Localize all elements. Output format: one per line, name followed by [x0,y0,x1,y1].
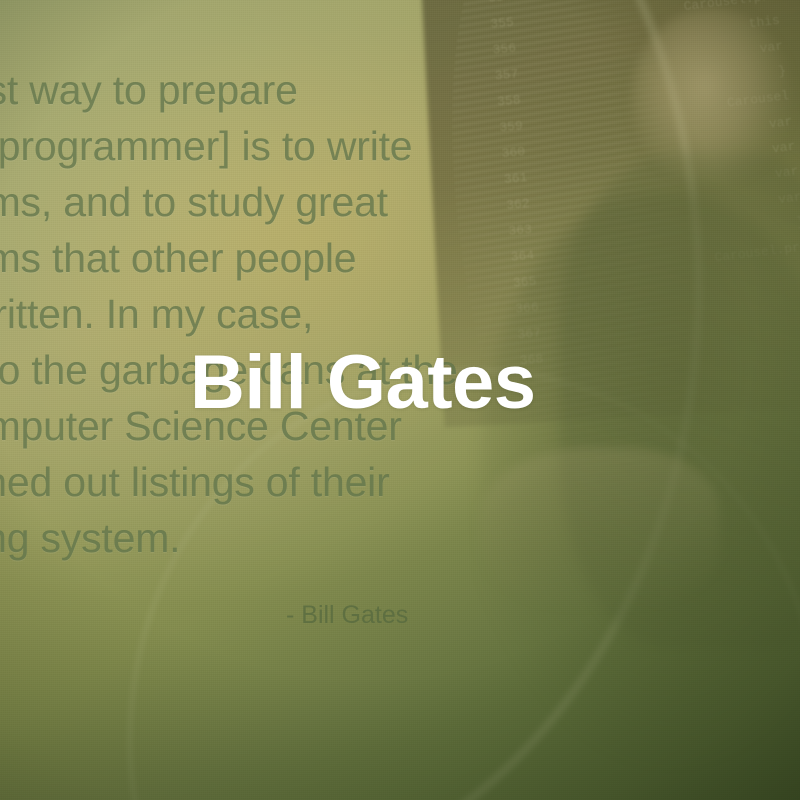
quote-text-block: est way to prepare a programmer] is to w… [0,62,584,566]
quote-line: ams, and to study great [0,174,584,230]
quote-line: ams that other people [0,230,584,286]
quote-line: a programmer] is to write [0,118,584,174]
quote-line: est way to prepare [0,62,584,118]
quote-line: shed out listings of their [0,454,584,510]
card-content: est way to prepare a programmer] is to w… [0,0,800,800]
quote-line: ting system. [0,510,584,566]
headline-name: Bill Gates [190,345,536,421]
quote-line: written. In my case, [0,286,584,342]
quote-attribution: - Bill Gates [286,601,408,630]
quote-card: 354 355 356 357 358 359 360 361 362 363 … [0,0,800,800]
